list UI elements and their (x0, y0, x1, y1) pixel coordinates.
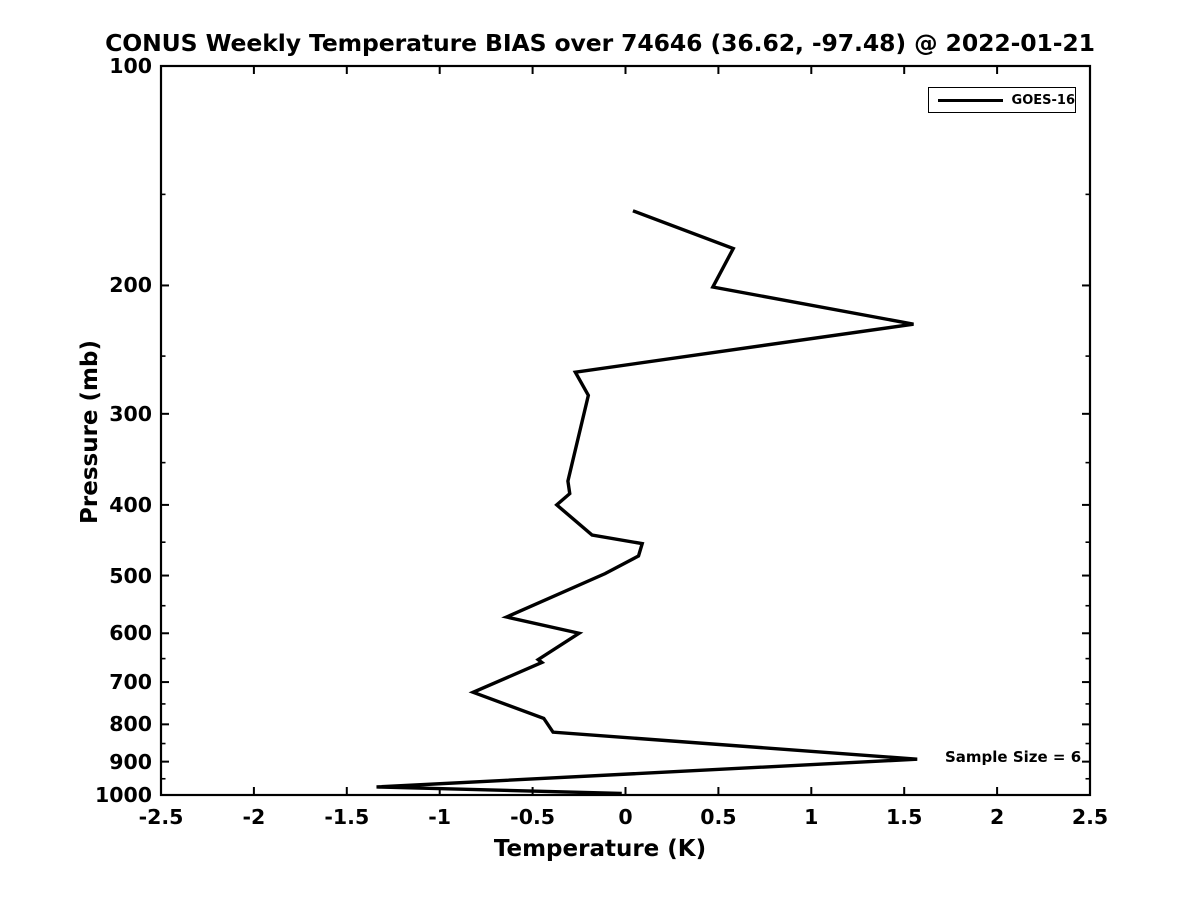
chart-legend: GOES-16 (928, 87, 1076, 113)
chart-figure: CONUS Weekly Temperature BIAS over 74646… (0, 0, 1200, 900)
legend-item-label: GOES-16 (1012, 93, 1075, 108)
sample-size-annotation: Sample Size = 6 (945, 748, 1081, 766)
axes-frame (161, 66, 1090, 795)
legend-line-swatch (938, 99, 1003, 102)
data-series-layer (377, 211, 918, 794)
axis-ticks (161, 66, 1090, 795)
data-line-goes-16 (377, 211, 918, 794)
